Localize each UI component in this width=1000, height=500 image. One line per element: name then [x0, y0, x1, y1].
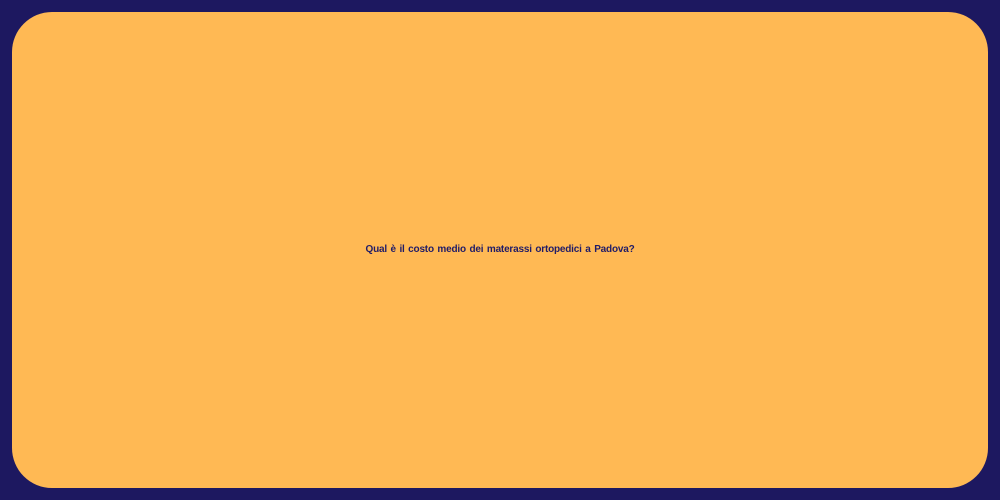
banner-background: Qual è il costo medio dei materassi orto…	[0, 0, 1000, 500]
question-card: Qual è il costo medio dei materassi orto…	[12, 12, 988, 488]
question-headline: Qual è il costo medio dei materassi orto…	[12, 244, 988, 257]
